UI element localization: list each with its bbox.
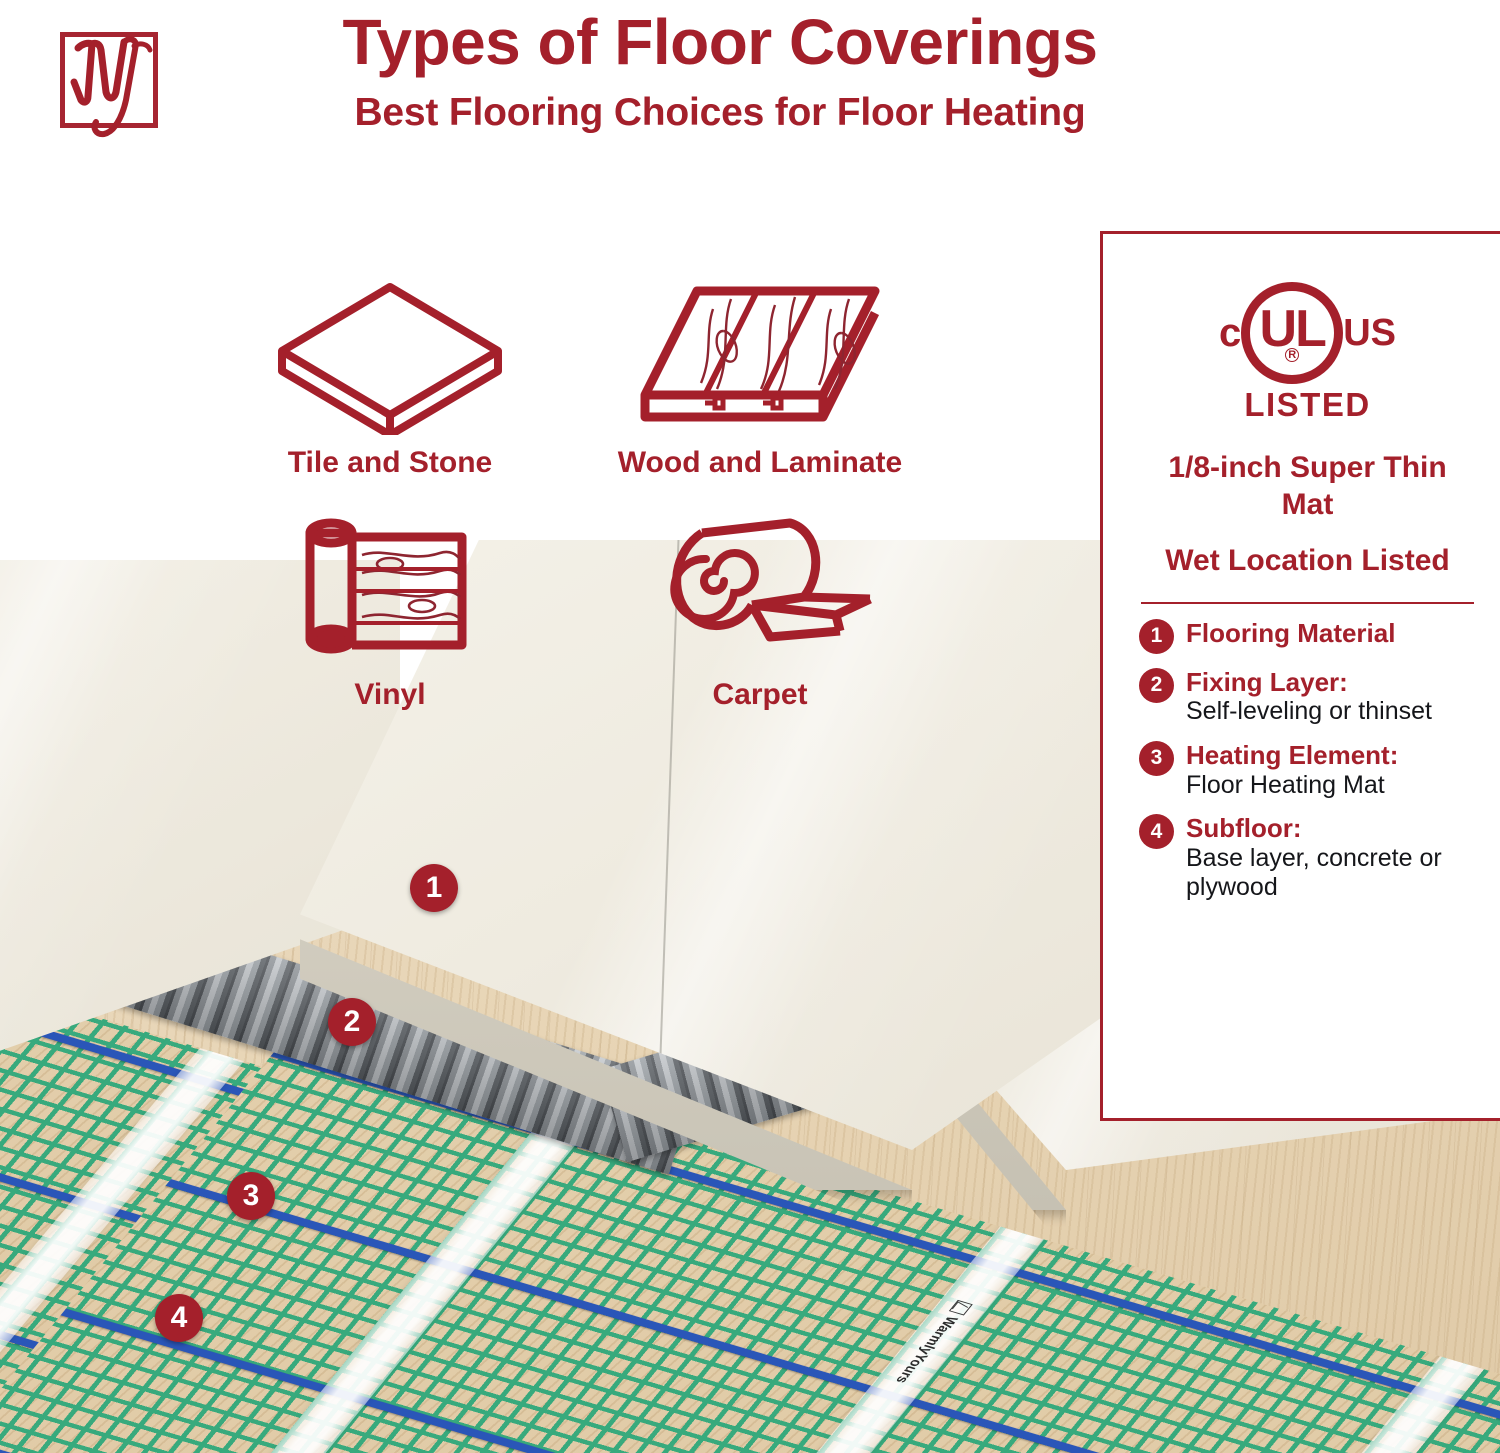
- legend-description: Self-leveling or thinset: [1186, 697, 1432, 727]
- title-block: Types of Floor Coverings Best Flooring C…: [170, 8, 1270, 136]
- page-title: Types of Floor Coverings: [170, 8, 1270, 77]
- covering-tile-and-stone: Tile and Stone: [200, 270, 580, 480]
- legend-title: Subfloor:: [1186, 813, 1476, 844]
- photo-callout-2: 2: [328, 998, 376, 1046]
- photo-callout-1: 1: [410, 864, 458, 912]
- legend-item-3: 3 Heating Element: Floor Heating Mat: [1139, 740, 1476, 800]
- legend-item-4: 4 Subfloor: Base layer, concrete or plyw…: [1139, 813, 1476, 903]
- ul-mark-circle: UL R: [1241, 282, 1343, 384]
- covering-label: Carpet: [570, 678, 950, 712]
- photo-callout-4: 4: [155, 1294, 203, 1342]
- legend-item-1: 1 Flooring Material: [1139, 618, 1476, 654]
- covering-wood-and-laminate: Wood and Laminate: [570, 270, 950, 480]
- covering-label: Wood and Laminate: [570, 446, 950, 480]
- legend-title: Fixing Layer:: [1186, 667, 1432, 698]
- page-subtitle: Best Flooring Choices for Floor Heating: [170, 91, 1270, 136]
- legend-title: Flooring Material: [1186, 618, 1395, 648]
- legend-item-2: 2 Fixing Layer: Self-leveling or thinset: [1139, 667, 1476, 727]
- tile-slab-icon: [200, 270, 580, 440]
- covering-label: Tile and Stone: [200, 446, 580, 480]
- legend-description: Floor Heating Mat: [1186, 771, 1398, 801]
- legend-title: Heating Element:: [1186, 740, 1398, 771]
- wood-planks-icon: [570, 270, 950, 440]
- infographic-canvas: WarmlyYours WarmlyYours WarmlyYours: [0, 0, 1500, 1453]
- legend-number-badge: 1: [1139, 619, 1174, 654]
- ul-heading-thin-mat: 1/8-inch Super Thin Mat: [1139, 450, 1476, 523]
- photo-callout-3: 3: [227, 1172, 275, 1220]
- ul-listed-mark-icon: c UL R US LISTED: [1139, 282, 1476, 424]
- floor-covering-icons: Tile and Stone: [200, 250, 1020, 760]
- vinyl-roll-icon: [200, 502, 580, 672]
- logo-wy-monogram-icon: [48, 22, 170, 140]
- legend-number-badge: 3: [1139, 741, 1174, 776]
- warmlyyours-logo: [48, 22, 170, 140]
- legend-number-badge: 4: [1139, 814, 1174, 849]
- covering-vinyl: Vinyl: [200, 502, 580, 712]
- ul-mark-c-letter: c: [1219, 313, 1241, 353]
- ul-mark-us-letter: US: [1343, 314, 1396, 352]
- warmlyyours-logo-icon: [949, 1300, 973, 1316]
- covering-carpet: Carpet: [570, 502, 950, 712]
- legend-number-badge: 2: [1139, 668, 1174, 703]
- ul-certification-panel: c UL R US LISTED 1/8-inch Super Thin Mat…: [1100, 231, 1500, 1121]
- registered-trademark-icon: R: [1285, 348, 1299, 362]
- legend-description: Base layer, concrete or plywood: [1186, 844, 1476, 903]
- page-header: Types of Floor Coverings Best Flooring C…: [0, 0, 1500, 200]
- covering-label: Vinyl: [200, 678, 580, 712]
- layer-legend-list: 1 Flooring Material 2 Fixing Layer: Self…: [1139, 618, 1476, 903]
- carpet-roll-icon: [570, 502, 950, 672]
- panel-divider: [1141, 602, 1474, 604]
- ul-mark-listed-text: LISTED: [1244, 386, 1370, 424]
- ul-heading-wet-location: Wet Location Listed: [1139, 543, 1476, 580]
